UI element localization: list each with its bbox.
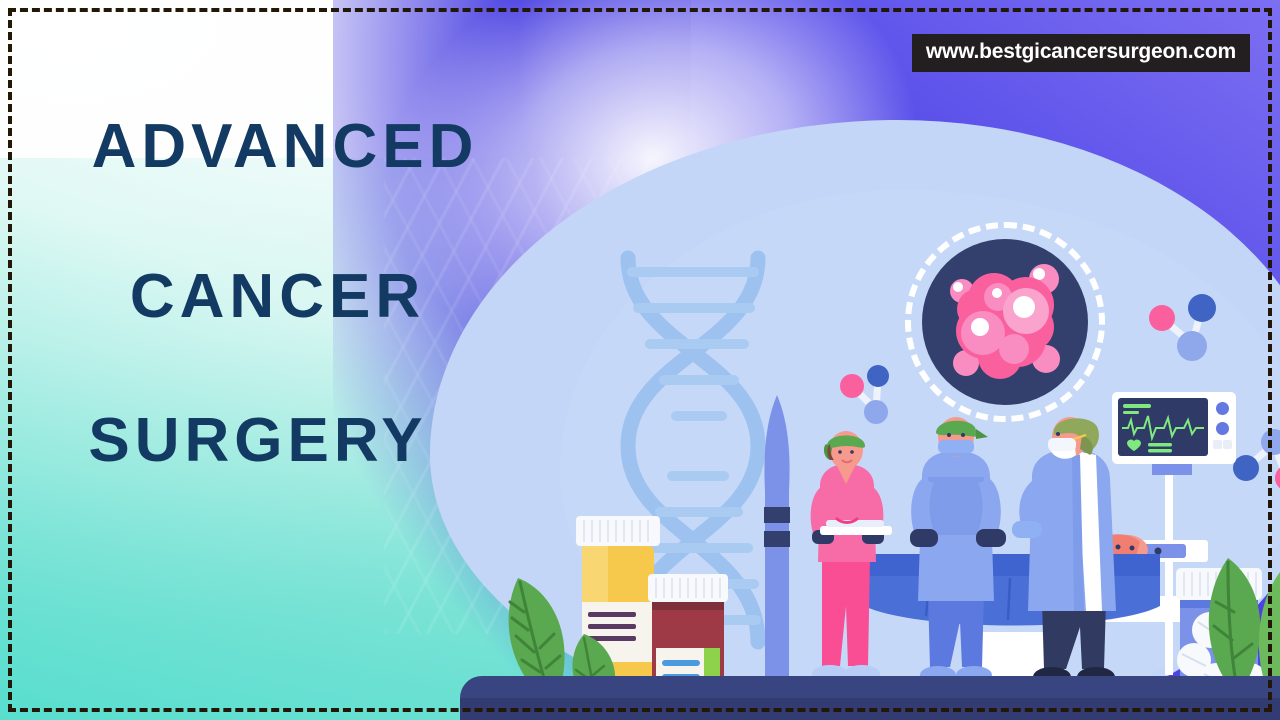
banner-root: ADVANCED CANCER SURGERY www.bestgicancer…	[0, 0, 1280, 720]
headline-line-2: CANCER	[0, 266, 580, 328]
scalpel-svg	[760, 395, 794, 695]
headline-line-3: SURGERY	[0, 410, 580, 472]
website-url-badge[interactable]: www.bestgicancersurgeon.com	[912, 34, 1250, 72]
monitor-knob-lower[interactable]	[1216, 422, 1229, 435]
scalpel-icon	[760, 395, 794, 695]
molecule-right-upper-icon	[1140, 280, 1240, 380]
monitor-knob-upper[interactable]	[1216, 402, 1229, 415]
surgeon-right	[1010, 415, 1136, 705]
monitor-buttons-icon[interactable]	[1213, 440, 1233, 450]
cancer-cell-cluster-icon	[922, 239, 1088, 405]
floor-bar-shadow	[460, 698, 1280, 720]
surgeon-center	[898, 415, 1018, 703]
page-title: ADVANCED CANCER SURGERY	[0, 116, 580, 472]
headline-line-1: ADVANCED	[0, 116, 580, 178]
monitor-neck	[1152, 464, 1192, 475]
